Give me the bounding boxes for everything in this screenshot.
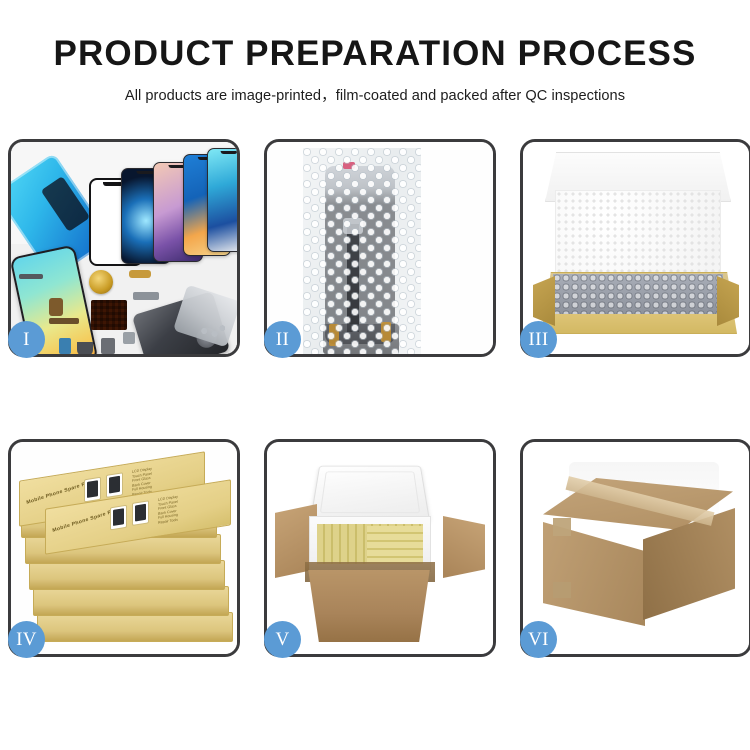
step-badge-3: III xyxy=(520,321,557,358)
process-step-panel-6: VI xyxy=(520,439,750,657)
process-step-panel-3: III xyxy=(520,139,750,357)
box-label-screen-image xyxy=(110,505,127,531)
packed-yellow-boxes-icon xyxy=(367,526,423,564)
step-badge-2: II xyxy=(264,321,301,358)
speaker-coil-icon xyxy=(89,270,113,294)
stacked-box xyxy=(33,586,229,616)
box-label-checklist: LCD Display Touch Panel Front Glass Back… xyxy=(158,489,216,528)
step-5-illustration xyxy=(267,442,493,654)
part-strip-icon xyxy=(19,274,43,279)
step-badge-6: VI xyxy=(520,621,557,658)
phone-display-cyan-icon xyxy=(207,148,237,252)
process-step-panel-5: V xyxy=(264,439,496,657)
box-edge xyxy=(30,580,224,589)
box-label-screen-image xyxy=(132,500,149,526)
camera-module-icon xyxy=(101,338,115,354)
page-title: PRODUCT PREPARATION PROCESS xyxy=(0,0,750,71)
bubble-wrap-layer-icon xyxy=(553,274,723,314)
carton-front-icon xyxy=(303,570,435,642)
notch-icon xyxy=(221,151,237,154)
stacked-box xyxy=(37,612,233,642)
step-badge-5: V xyxy=(264,621,301,658)
ribbon-part-icon xyxy=(49,298,63,316)
tape-edge-icon xyxy=(553,582,571,598)
step-badge-1: I xyxy=(8,321,45,358)
bubble-texture-icon xyxy=(303,148,421,354)
box-stack: Mobile Phone Spare Parts LCD Display Tou… xyxy=(19,460,235,650)
box-label-screen-image xyxy=(84,477,101,503)
box-label-screen-image xyxy=(106,472,123,498)
process-steps-grid: I II xyxy=(8,139,748,675)
product-preparation-infographic: PRODUCT PREPARATION PROCESS All products… xyxy=(0,0,750,750)
step-4-illustration: Mobile Phone Spare Parts LCD Display Tou… xyxy=(11,442,237,654)
step-1-illustration xyxy=(11,142,237,354)
process-step-panel-1: I xyxy=(8,139,240,357)
step-3-illustration xyxy=(523,142,749,354)
header: PRODUCT PREPARATION PROCESS All products… xyxy=(0,0,750,104)
metal-bracket-icon xyxy=(133,292,159,300)
chip-grid-icon xyxy=(91,300,127,330)
flex-cable-icon xyxy=(49,318,79,324)
page-subtitle: All products are image-printed，film-coat… xyxy=(0,71,750,104)
screws-icon xyxy=(199,324,225,338)
gold-connector-icon xyxy=(129,270,151,278)
box-edge xyxy=(38,632,232,641)
box-flap-right-icon xyxy=(717,276,739,326)
tape-edge-icon xyxy=(553,518,571,536)
styrofoam-lid-icon xyxy=(310,466,430,521)
process-step-panel-4: Mobile Phone Spare Parts LCD Display Tou… xyxy=(8,439,240,657)
battery-part-icon xyxy=(59,338,71,354)
step-badge-4: IV xyxy=(8,621,45,658)
stacked-box xyxy=(29,560,225,590)
carton-flap-right-icon xyxy=(443,516,485,578)
box-flap-left-icon xyxy=(533,276,555,326)
box-edge xyxy=(26,554,220,563)
bubble-wrap-bag xyxy=(303,148,421,354)
carton-left-face-icon xyxy=(543,522,645,626)
process-step-panel-2: II xyxy=(264,139,496,357)
step-2-illustration xyxy=(267,142,493,354)
step-6-illustration xyxy=(523,442,749,654)
foam-sheet-icon xyxy=(555,190,721,276)
box-edge xyxy=(34,606,228,615)
small-screw-plate-icon xyxy=(123,332,135,344)
buzzer-part-icon xyxy=(77,342,93,354)
